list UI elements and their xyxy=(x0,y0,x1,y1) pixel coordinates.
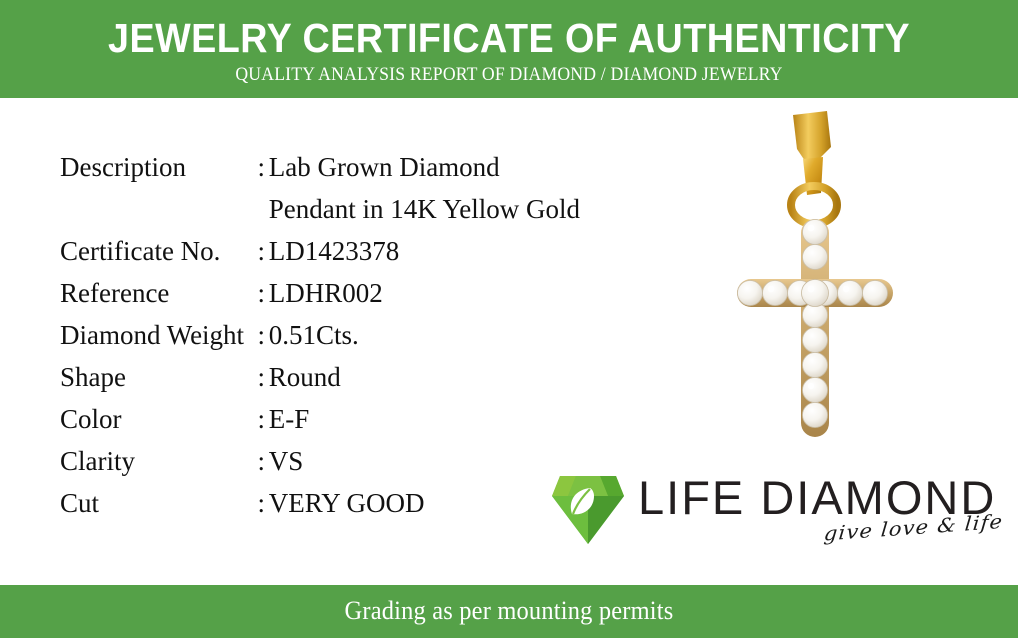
spec-separator: : xyxy=(257,314,268,356)
table-row: Reference : LDHR002 xyxy=(60,272,580,314)
spec-value-description-line2: Pendant in 14K Yellow Gold xyxy=(269,188,580,230)
product-photo-cross-pendant xyxy=(715,101,945,451)
spec-label-color: Color xyxy=(60,398,257,440)
spec-separator-blank xyxy=(257,188,268,230)
table-row: Diamond Weight : 0.51Cts. xyxy=(60,314,580,356)
spec-value-clarity: VS xyxy=(269,440,580,482)
table-row: Certificate No. : LD1423378 xyxy=(60,230,580,272)
brand-logo: LIFE DIAMOND give love & life xyxy=(546,466,976,566)
diamond-gem-icon xyxy=(546,470,630,546)
spec-label-certificate-no: Certificate No. xyxy=(60,230,257,272)
spec-value-cut: VERY GOOD xyxy=(269,482,580,524)
certificate-subtitle: QUALITY ANALYSIS REPORT OF DIAMOND / DIA… xyxy=(36,64,983,86)
grading-note: Grading as per mounting permits xyxy=(31,596,988,626)
gem-leaf-icon xyxy=(546,470,630,546)
spec-label-description-continued xyxy=(60,188,257,230)
center-diamond xyxy=(802,280,829,307)
spec-separator: : xyxy=(257,230,268,272)
spec-separator: : xyxy=(257,272,268,314)
gem-pavilion-right xyxy=(588,496,624,544)
spec-separator: : xyxy=(257,440,268,482)
spec-value-shape: Round xyxy=(269,356,580,398)
certificate-header: JEWELRY CERTIFICATE OF AUTHENTICITY QUAL… xyxy=(0,0,1018,98)
table-row: Color : E-F xyxy=(60,398,580,440)
table-row: Clarity : VS xyxy=(60,440,580,482)
spec-separator: : xyxy=(257,482,268,524)
certificate-title: JEWELRY CERTIFICATE OF AUTHENTICITY xyxy=(41,16,978,60)
bail-top xyxy=(793,111,831,161)
spec-separator: : xyxy=(257,146,268,188)
table-row: Cut : VERY GOOD xyxy=(60,482,580,524)
certificate-card: JEWELRY CERTIFICATE OF AUTHENTICITY QUAL… xyxy=(0,0,1018,638)
spec-separator: : xyxy=(257,398,268,440)
spec-value-reference: LDHR002 xyxy=(269,272,580,314)
spec-value-description: Lab Grown Diamond xyxy=(269,146,580,188)
diamond-set-vertical xyxy=(803,220,828,428)
spec-label-shape: Shape xyxy=(60,356,257,398)
certificate-body: Description : Lab Grown Diamond Pendant … xyxy=(0,98,1018,585)
spec-value-color: E-F xyxy=(269,398,580,440)
spec-label-diamond-weight: Diamond Weight xyxy=(60,314,257,356)
spec-label-reference: Reference xyxy=(60,272,257,314)
table-row: Shape : Round xyxy=(60,356,580,398)
table-row: Pendant in 14K Yellow Gold xyxy=(60,188,580,230)
table-row: Description : Lab Grown Diamond xyxy=(60,146,580,188)
spec-separator: : xyxy=(257,356,268,398)
cross-pendant-icon xyxy=(715,101,945,451)
spec-label-cut: Cut xyxy=(60,482,257,524)
specification-table: Description : Lab Grown Diamond Pendant … xyxy=(60,146,580,524)
spec-label-clarity: Clarity xyxy=(60,440,257,482)
spec-label-description: Description xyxy=(60,146,257,188)
spec-value-certificate-no: LD1423378 xyxy=(269,230,580,272)
spec-value-diamond-weight: 0.51Cts. xyxy=(269,314,580,356)
certificate-footer: Grading as per mounting permits xyxy=(0,585,1018,638)
